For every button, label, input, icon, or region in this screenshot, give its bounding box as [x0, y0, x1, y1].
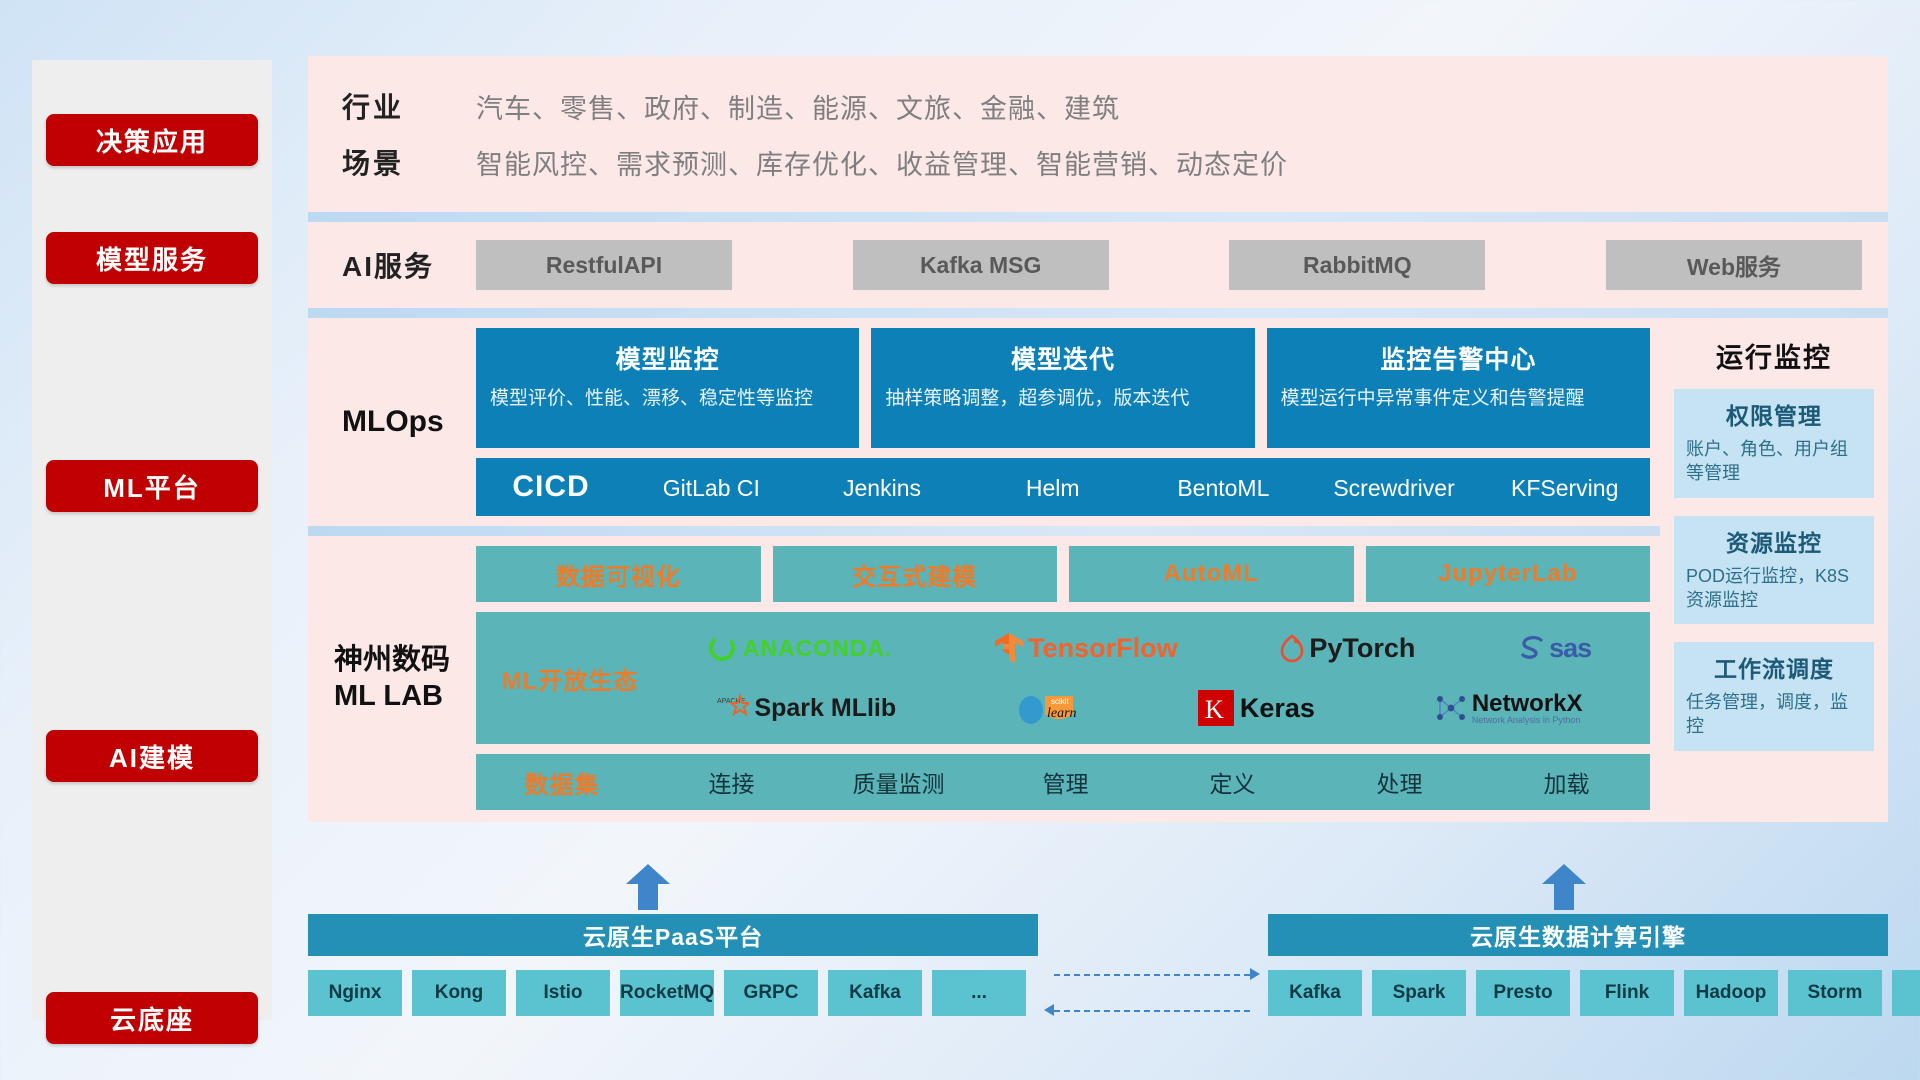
panel-divider: [308, 212, 1888, 222]
compute-chip-presto[interactable]: Presto: [1476, 970, 1570, 1016]
mlops-panel: MLOps 模型监控 模型评价、性能、漂移、稳定性等监控 模型迭代 抽样策略调整…: [308, 318, 1660, 526]
layer-label: AI建模: [109, 738, 195, 775]
paas-platform-bar[interactable]: 云原生PaaS平台: [308, 914, 1038, 956]
layer-label: ML平台: [103, 468, 201, 505]
mlops-card-desc: 模型评价、性能、漂移、稳定性等监控: [490, 386, 845, 411]
cicd-item-helm[interactable]: Helm: [967, 475, 1138, 500]
layer-button-cloud-base[interactable]: 云底座: [46, 992, 258, 1044]
sas-logo-text: sas: [1549, 633, 1591, 664]
mlops-card-desc: 模型运行中异常事件定义和告警提醒: [1281, 386, 1636, 411]
ml-open-ecosystem: ML开放生态 ANACONDA.: [476, 612, 1650, 744]
pytorch-logo: PyTorch: [1279, 633, 1415, 664]
dataset-item-process[interactable]: 处理: [1316, 765, 1483, 799]
cloud-base-section: 云原生PaaS平台 云原生数据计算引擎 Nginx Kong Istio Roc…: [308, 882, 1888, 1072]
scenario-value: 智能风控、需求预测、库存优化、收益管理、智能营销、动态定价: [476, 134, 1888, 190]
model-service-panel: AI服务 RestfulAPI Kafka MSG RabbitMQ Web服务: [308, 222, 1888, 308]
paas-chip-kafka[interactable]: Kafka: [828, 970, 922, 1016]
arrow-up-paas-icon: [626, 864, 670, 910]
ml-platform-band: MLOps 模型监控 模型评价、性能、漂移、稳定性等监控 模型迭代 抽样策略调整…: [308, 318, 1888, 822]
cicd-item-screwdriver[interactable]: Screwdriver: [1309, 475, 1480, 500]
monitoring-card-desc: 任务管理，调度，监控: [1686, 690, 1862, 739]
compute-chip-spark[interactable]: Spark: [1372, 970, 1466, 1016]
mlops-label: MLOps: [308, 328, 476, 516]
diagram-canvas: 决策应用 模型服务 ML平台 AI建模 云底座 行业 场景 汽车、零售、政府、制…: [0, 0, 1920, 1080]
compute-chip-list: Kafka Spark Presto Flink Hadoop Storm ..…: [1268, 970, 1920, 1016]
compute-chip-flink[interactable]: Flink: [1580, 970, 1674, 1016]
ml-lab-tab-interactive-modeling[interactable]: 交互式建模: [773, 546, 1058, 602]
cicd-item-bentoml[interactable]: BentoML: [1138, 475, 1309, 500]
keras-logo: K Keras: [1198, 690, 1315, 726]
dataset-item-load[interactable]: 加载: [1483, 765, 1650, 799]
panel-divider: [308, 526, 1660, 536]
sas-logo: sas: [1517, 633, 1591, 664]
monitoring-card-permission[interactable]: 权限管理 账户、角色、用户组等管理: [1674, 389, 1874, 498]
layer-label: 模型服务: [96, 240, 208, 277]
ai-service-chip-list: RestfulAPI Kafka MSG RabbitMQ Web服务: [476, 240, 1888, 290]
main-stack: 行业 场景 汽车、零售、政府、制造、能源、文旅、金融、建筑 智能风控、需求预测、…: [308, 56, 1888, 822]
mlops-card-title: 模型监控: [490, 340, 845, 376]
ml-open-ecosystem-label: ML开放生态: [484, 661, 656, 696]
spark-mllib-logo: APACHE Spark MLlib: [715, 693, 896, 723]
dataset-bar: 数据集 连接 质量监测 管理 定义 处理 加载: [476, 754, 1650, 810]
arrow-up-compute-icon: [1542, 864, 1586, 910]
compute-chip-storm[interactable]: Storm: [1788, 970, 1882, 1016]
industry-scenario-values: 汽车、零售、政府、制造、能源、文旅、金融、建筑 智能风控、需求预测、库存优化、收…: [476, 78, 1888, 190]
dataset-item-define[interactable]: 定义: [1149, 765, 1316, 799]
industry-label: 行业: [342, 78, 476, 134]
paas-chip-rocketmq[interactable]: RocketMQ: [620, 970, 714, 1016]
dataset-item-quality[interactable]: 质量监测: [815, 765, 982, 799]
dataset-item-connect[interactable]: 连接: [648, 765, 815, 799]
ai-service-label: AI服务: [308, 245, 476, 285]
networkx-logo-text: NetworkX: [1472, 692, 1583, 716]
industry-value: 汽车、零售、政府、制造、能源、文旅、金融、建筑: [476, 78, 1888, 134]
compute-chip-hadoop[interactable]: Hadoop: [1684, 970, 1778, 1016]
dataset-item-manage[interactable]: 管理: [982, 765, 1149, 799]
ai-service-chip-kafka-msg[interactable]: Kafka MSG: [853, 240, 1109, 290]
ml-lab-label: 神州数码 ML LAB: [308, 546, 476, 810]
monitoring-card-title: 权限管理: [1686, 397, 1862, 431]
ai-service-chip-web[interactable]: Web服务: [1606, 240, 1862, 290]
ml-lab-label-line1: 神州数码: [334, 642, 450, 678]
anaconda-logo-text: ANACONDA.: [743, 635, 893, 662]
cicd-item-jenkins[interactable]: Jenkins: [797, 475, 968, 500]
mlops-card-model-monitoring[interactable]: 模型监控 模型评价、性能、漂移、稳定性等监控: [476, 328, 859, 448]
ml-lab-tab-automl[interactable]: AutoML: [1069, 546, 1354, 602]
monitoring-card-resource[interactable]: 资源监控 POD运行监控，K8S资源监控: [1674, 516, 1874, 625]
ml-lab-label-line2: ML LAB: [334, 678, 450, 714]
svg-text:K: K: [1205, 695, 1224, 724]
spark-mllib-logo-text: Spark MLlib: [754, 694, 896, 723]
layer-button-ai-modeling[interactable]: AI建模: [46, 730, 258, 782]
layer-button-decision-app[interactable]: 决策应用: [46, 114, 258, 166]
ai-modeling-panel: 神州数码 ML LAB 数据可视化 交互式建模 AutoML JupyterLa…: [308, 536, 1660, 822]
mlops-card-desc: 抽样策略调整，超参调优，版本迭代: [885, 386, 1240, 411]
ml-lab-tab-data-visualization[interactable]: 数据可视化: [476, 546, 761, 602]
cicd-item-list: GitLab CI Jenkins Helm BentoML Screwdriv…: [626, 475, 1650, 500]
layer-label: 云底座: [110, 1000, 194, 1037]
layer-button-ml-platform[interactable]: ML平台: [46, 460, 258, 512]
monitoring-card-desc: POD运行监控，K8S资源监控: [1686, 564, 1862, 613]
layer-label: 决策应用: [96, 122, 208, 159]
mlops-card-list: 模型监控 模型评价、性能、漂移、稳定性等监控 模型迭代 抽样策略调整，超参调优，…: [476, 328, 1650, 448]
monitoring-card-title: 工作流调度: [1686, 650, 1862, 684]
ml-lab-tab-jupyterlab[interactable]: JupyterLab: [1366, 546, 1651, 602]
compute-chip-more[interactable]: ...: [1892, 970, 1920, 1016]
runtime-monitoring-title: 运行监控: [1660, 318, 1888, 389]
networkx-logo: NetworkX Network Analysis in Python: [1434, 692, 1583, 725]
paas-chip-list: Nginx Kong Istio RocketMQ GRPC Kafka ...: [308, 970, 1026, 1016]
anaconda-logo: ANACONDA.: [707, 633, 893, 663]
paas-chip-grpc[interactable]: GRPC: [724, 970, 818, 1016]
dataset-title: 数据集: [476, 765, 648, 800]
keras-logo-text: Keras: [1240, 693, 1315, 724]
mlops-card-model-iteration[interactable]: 模型迭代 抽样策略调整，超参调优，版本迭代: [871, 328, 1254, 448]
ml-platform-left: MLOps 模型监控 模型评价、性能、漂移、稳定性等监控 模型迭代 抽样策略调整…: [308, 318, 1660, 822]
ecosystem-logo-row-2: APACHE Spark MLlib: [656, 678, 1642, 738]
tensorflow-logo: TensorFlow: [994, 632, 1178, 664]
panel-divider: [308, 308, 1888, 318]
cicd-item-gitlab-ci[interactable]: GitLab CI: [626, 475, 797, 500]
cicd-bar: CICD GitLab CI Jenkins Helm BentoML Scre…: [476, 458, 1650, 516]
scikit-learn-logo: scikit learn: [1015, 690, 1079, 726]
paas-chip-more[interactable]: ...: [932, 970, 1026, 1016]
svg-text:scikit: scikit: [1051, 697, 1070, 706]
ml-lab-tab-list: 数据可视化 交互式建模 AutoML JupyterLab: [476, 546, 1650, 602]
industry-scenario-labels: 行业 场景: [308, 78, 476, 190]
monitoring-card-title: 资源监控: [1686, 524, 1862, 558]
ecosystem-logo-grid: ANACONDA. Tens: [656, 618, 1642, 738]
svg-text:learn: learn: [1047, 706, 1077, 721]
monitoring-card-workflow[interactable]: 工作流调度 任务管理，调度，监控: [1674, 642, 1874, 751]
decision-app-panel: 行业 场景 汽车、零售、政府、制造、能源、文旅、金融、建筑 智能风控、需求预测、…: [308, 56, 1888, 212]
compute-engine-bar[interactable]: 云原生数据计算引擎: [1268, 914, 1888, 956]
layer-rail: 决策应用 模型服务 ML平台 AI建模 云底座: [32, 60, 272, 1020]
mlops-card-alert-center[interactable]: 监控告警中心 模型运行中异常事件定义和告警提醒: [1267, 328, 1650, 448]
ai-service-chip-rabbitmq[interactable]: RabbitMQ: [1229, 240, 1485, 290]
ai-service-chip-restfulapi[interactable]: RestfulAPI: [476, 240, 732, 290]
paas-chip-nginx[interactable]: Nginx: [308, 970, 402, 1016]
cicd-title: CICD: [476, 470, 626, 504]
paas-chip-istio[interactable]: Istio: [516, 970, 610, 1016]
ecosystem-logo-row-1: ANACONDA. Tens: [656, 618, 1642, 678]
pytorch-logo-text: PyTorch: [1309, 633, 1415, 664]
dataset-item-list: 连接 质量监测 管理 定义 处理 加载: [648, 765, 1650, 799]
scenario-label: 场景: [342, 134, 476, 190]
layer-button-model-service[interactable]: 模型服务: [46, 232, 258, 284]
mlops-card-title: 监控告警中心: [1281, 340, 1636, 376]
compute-chip-kafka[interactable]: Kafka: [1268, 970, 1362, 1016]
mlops-card-title: 模型迭代: [885, 340, 1240, 376]
monitoring-card-desc: 账户、角色、用户组等管理: [1686, 437, 1862, 486]
runtime-monitoring-column: 运行监控 权限管理 账户、角色、用户组等管理 资源监控 POD运行监控，K8S资…: [1660, 318, 1888, 822]
cicd-item-kfserving[interactable]: KFServing: [1479, 475, 1650, 500]
tensorflow-logo-text: TensorFlow: [1028, 633, 1178, 664]
paas-chip-kong[interactable]: Kong: [412, 970, 506, 1016]
